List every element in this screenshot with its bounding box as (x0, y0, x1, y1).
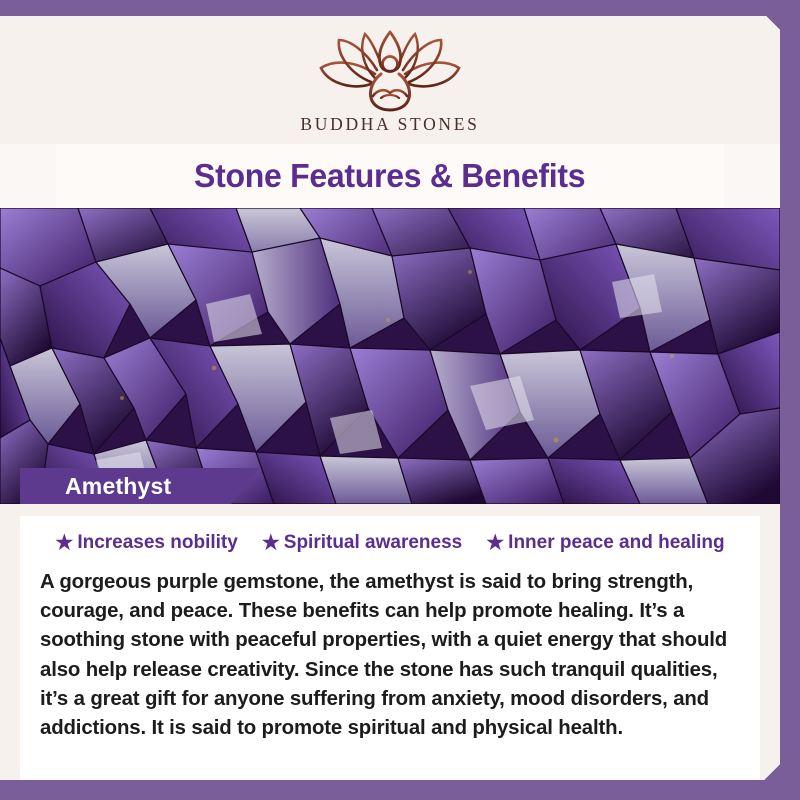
brand-header: BUDDHA STONES (0, 16, 780, 144)
frame-border-right (780, 0, 800, 800)
stone-description: A gorgeous purple gemstone, the amethyst… (34, 568, 746, 743)
benefit-label: Inner peace and healing (508, 532, 724, 554)
infographic-page: BUDDHA STONES Stone Features & Benefits (0, 0, 800, 800)
benefit-item: ★ Increases nobility (55, 532, 237, 554)
corner-accent-bottom-right (764, 764, 780, 780)
benefit-item: ★ Inner peace and healing (486, 532, 724, 554)
title-band: Stone Features & Benefits (0, 144, 780, 208)
frame-border-bottom (0, 780, 800, 800)
benefit-label: Increases nobility (77, 532, 238, 554)
benefit-item: ★ Spiritual awareness (262, 532, 462, 554)
star-icon: ★ (262, 533, 280, 553)
title-band-inner: Stone Features & Benefits (56, 144, 724, 208)
page-title: Stone Features & Benefits (194, 157, 585, 195)
details-panel: ★ Increases nobility ★ Spiritual awarene… (20, 516, 760, 780)
stone-name-label: Amethyst (65, 473, 171, 500)
amethyst-crystal-cluster-photo (0, 208, 780, 504)
star-icon: ★ (486, 533, 504, 553)
corner-accent-top-right (766, 16, 780, 30)
benefit-label: Spiritual awareness (284, 532, 462, 554)
stone-name-banner: Amethyst (20, 468, 260, 504)
star-icon: ★ (55, 533, 73, 553)
brand-name: BUDDHA STONES (300, 114, 479, 135)
lotus-meditation-icon (315, 30, 465, 112)
benefits-list: ★ Increases nobility ★ Spiritual awarene… (34, 530, 746, 558)
content-card: BUDDHA STONES Stone Features & Benefits (0, 16, 780, 780)
frame-border-top (0, 0, 800, 16)
